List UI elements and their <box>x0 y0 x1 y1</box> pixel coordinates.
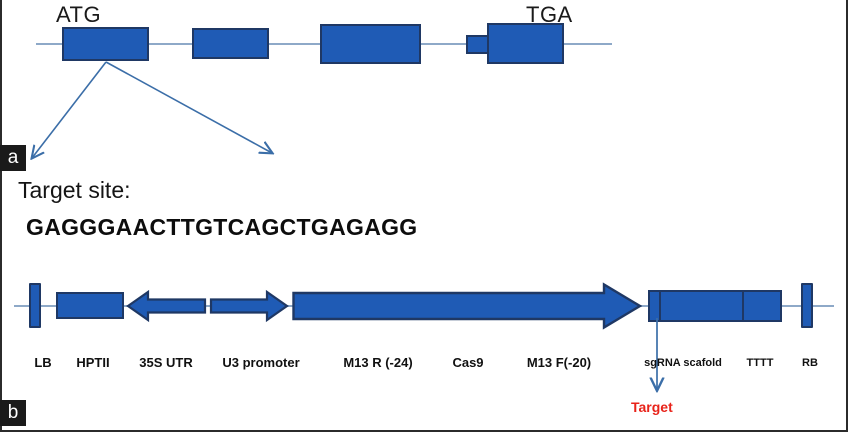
right-border-bar <box>801 283 813 328</box>
feature-label-lb: LB <box>23 355 63 370</box>
feature-label-35s-utr: 35S UTR <box>126 355 206 370</box>
target-site-heading: Target site: <box>18 177 131 204</box>
target-callout-label: Target <box>631 399 673 415</box>
feature-label-cas9: Cas9 <box>434 355 502 370</box>
sgrna-tttt-divider <box>742 290 744 322</box>
exon-box-5 <box>487 23 564 64</box>
feature-label-u3-promoter: U3 promoter <box>203 355 319 370</box>
feature-label-tttt: TTTT <box>738 357 782 369</box>
feature-label-hptii: HPTII <box>60 355 126 370</box>
figure-frame-left <box>0 0 2 432</box>
u3-promoter-right-arrow <box>210 290 288 322</box>
feature-label-sgrna-scafold: sgRNA scafold <box>633 357 733 369</box>
exon-box-3 <box>320 24 421 64</box>
panel-badge-a: a <box>0 145 26 171</box>
left-border-bar <box>29 283 41 328</box>
feature-label-m13-r: M13 R (-24) <box>322 355 434 370</box>
zoom-arrow-left <box>0 0 300 175</box>
cas9-large-arrow <box>292 283 642 329</box>
feature-label-rb: RB <box>793 357 827 369</box>
feature-label-m13-f: M13 F(-20) <box>505 355 613 370</box>
hptii-box <box>56 292 124 319</box>
panel-badge-b: b <box>0 400 26 426</box>
figure-container: ATG TGA a Target site: GAGGGAACTTGTCAGCT… <box>0 0 848 432</box>
target-site-sequence: GAGGGAACTTGTCAGCTGAGAGG <box>26 214 418 241</box>
utr-35s-left-arrow <box>128 290 206 322</box>
